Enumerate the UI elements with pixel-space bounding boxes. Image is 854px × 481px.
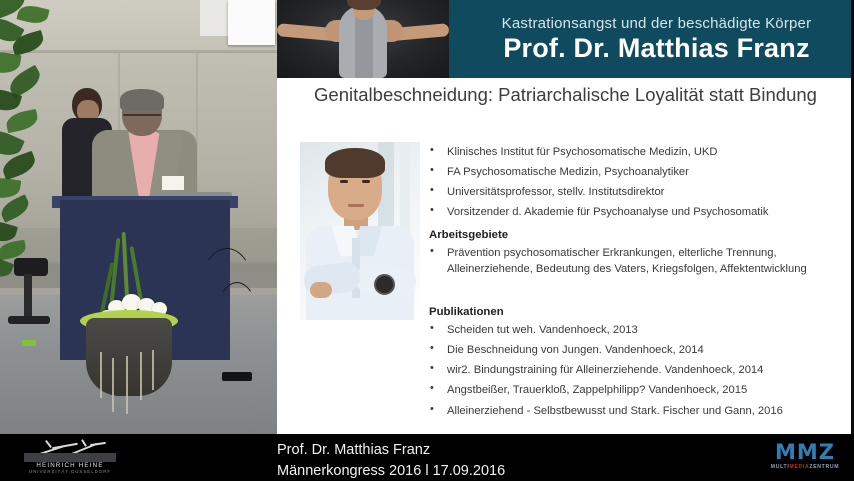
publikationen-section: Publikationen Scheiden tut weh. Vandenho… xyxy=(429,306,841,423)
mmz-sub-pre: MULTI xyxy=(771,464,790,470)
name-badge xyxy=(162,176,184,190)
credentials-list: Klinisches Institut für Psychosomatische… xyxy=(429,144,841,225)
list-item: Alleinerziehend - Selbstbewusst und Star… xyxy=(429,403,841,419)
bottom-caption-line2: Männerkongress 2016 l 17.09.2016 xyxy=(277,461,505,481)
section-heading-publikationen: Publikationen xyxy=(429,306,841,318)
cable xyxy=(214,282,260,370)
list-item: Universitätsprofessor, stellv. Instituts… xyxy=(429,184,841,200)
lecture-video-pane[interactable] xyxy=(0,0,277,434)
list-item: FA Psychosomatische Medizin, Psychoanaly… xyxy=(429,164,841,180)
hhu-logo: HEINRICH HEINE UNIVERSITÄT DÜSSELDORF xyxy=(14,440,120,476)
list-item: Vorsitzender d. Akademie für Psychoanaly… xyxy=(429,204,841,220)
bottom-bar: HEINRICH HEINE UNIVERSITÄT DÜSSELDORF Pr… xyxy=(0,434,854,480)
bottom-caption-line1: Prof. Dr. Matthias Franz xyxy=(277,440,505,461)
equipment-indicator xyxy=(22,340,36,346)
presentation-slide[interactable]: Kastrationsangst und der beschädigte Kör… xyxy=(277,0,854,434)
projection-screen xyxy=(228,0,275,45)
projection-screen-secondary xyxy=(200,0,230,36)
hhu-logo-line1: HEINRICH HEINE xyxy=(24,462,116,469)
mmz-logo-subtitle: MULTIMEDIAZENTRUM xyxy=(768,464,842,470)
slide-body: Klinisches Institut für Psychosomatische… xyxy=(277,0,854,434)
screen: Kastrationsangst und der beschädigte Kör… xyxy=(0,0,854,480)
logo-band xyxy=(24,453,116,462)
list-item: Klinisches Institut für Psychosomatische… xyxy=(429,144,841,160)
mmz-sub-post: ZENTRUM xyxy=(809,464,839,470)
hhu-logo-line2: UNIVERSITÄT DÜSSELDORF xyxy=(24,469,116,474)
list-item: Prävention psychosomatischer Erkrankunge… xyxy=(429,245,841,277)
list-item: Angstbeißer, Trauerkloß, Zappelphilipp? … xyxy=(429,382,841,398)
mmz-logo-wordmark: MMZ xyxy=(768,442,842,463)
bottom-caption: Prof. Dr. Matthias Franz Männerkongress … xyxy=(277,440,505,481)
list-item: Die Beschneidung von Jungen. Vandenhoeck… xyxy=(429,342,841,358)
camera-rig xyxy=(8,258,54,328)
mmz-sub-mid: MEDIA xyxy=(789,464,809,470)
arbeitsgebiete-section: Arbeitsgebiete Prävention psychosomatisc… xyxy=(429,229,841,281)
list-item: Scheiden tut weh. Vandenhoeck, 2013 xyxy=(429,322,841,338)
mmz-logo: MMZ MULTIMEDIAZENTRUM xyxy=(768,442,842,474)
section-heading-arbeitsgebiete: Arbeitsgebiete xyxy=(429,229,841,241)
power-strip xyxy=(222,372,252,381)
list-item: wir2. Bindungstraining für Alleinerziehe… xyxy=(429,362,841,378)
